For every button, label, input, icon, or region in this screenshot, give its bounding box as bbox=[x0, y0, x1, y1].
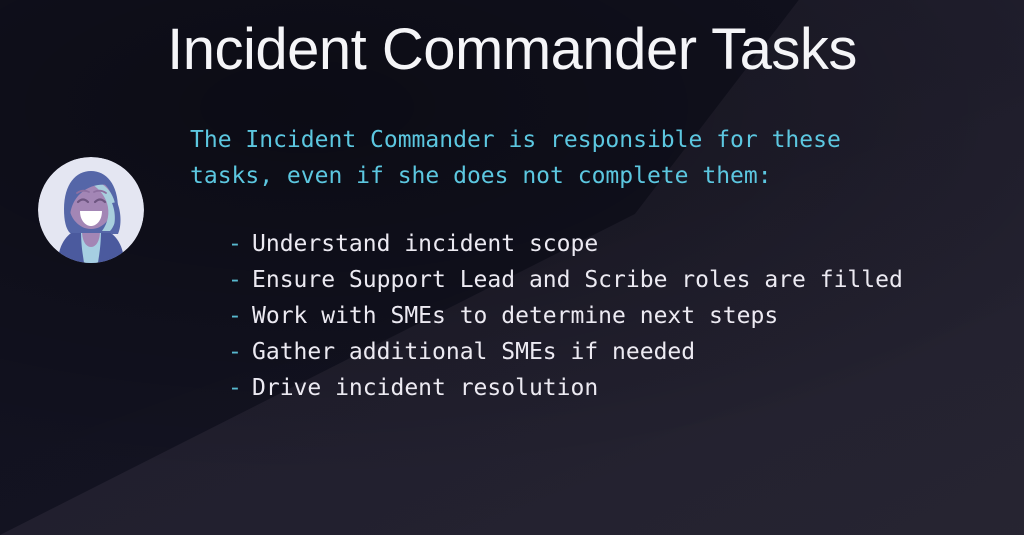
task-label: Gather additional SMEs if needed bbox=[252, 334, 695, 370]
list-item: - Work with SMEs to determine next steps bbox=[228, 298, 1010, 334]
bullet-dash-icon: - bbox=[228, 262, 252, 298]
bullet-dash-icon: - bbox=[228, 226, 252, 262]
slide-body: The Incident Commander is responsible fo… bbox=[190, 122, 1010, 406]
bullet-dash-icon: - bbox=[228, 370, 252, 406]
list-item: - Ensure Support Lead and Scribe roles a… bbox=[228, 262, 1010, 298]
avatar-clip-group bbox=[38, 157, 144, 263]
bullet-dash-icon: - bbox=[228, 298, 252, 334]
task-list: - Understand incident scope - Ensure Sup… bbox=[228, 226, 1010, 406]
intro-paragraph: The Incident Commander is responsible fo… bbox=[190, 122, 1010, 194]
page-title: Incident Commander Tasks bbox=[0, 18, 1024, 82]
slide-canvas: Incident Commander Tasks bbox=[0, 0, 1024, 535]
list-item: - Understand incident scope bbox=[228, 226, 1010, 262]
task-label: Understand incident scope bbox=[252, 226, 598, 262]
intro-line-2: tasks, even if she does not complete the… bbox=[190, 163, 772, 189]
avatar bbox=[38, 157, 144, 263]
task-label: Ensure Support Lead and Scribe roles are… bbox=[252, 262, 903, 298]
bullet-dash-icon: - bbox=[228, 334, 252, 370]
task-label: Work with SMEs to determine next steps bbox=[252, 298, 778, 334]
list-item: - Drive incident resolution bbox=[228, 370, 1010, 406]
intro-line-1: The Incident Commander is responsible fo… bbox=[190, 127, 841, 153]
list-item: - Gather additional SMEs if needed bbox=[228, 334, 1010, 370]
task-label: Drive incident resolution bbox=[252, 370, 598, 406]
